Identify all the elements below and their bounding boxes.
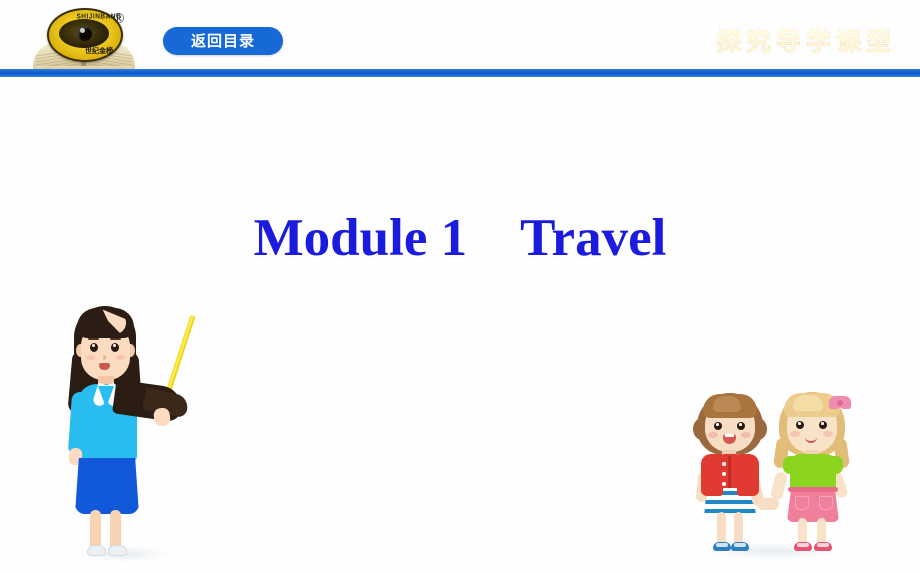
course-type-title: 探究导学课型 [716, 22, 896, 58]
girl-left-cheek-right [741, 432, 751, 438]
girl-right-arm-left [770, 471, 788, 501]
girl-left-teeth [725, 434, 734, 437]
teacher-eye-right-highlight [113, 344, 116, 347]
girl-right-skirt-pocket-right [819, 496, 833, 510]
girl-left-shoe-left-inner [716, 543, 728, 547]
girl-right-sleeve-right [829, 456, 843, 474]
joined-hands [757, 498, 779, 510]
girl-left-jacket-button-2 [722, 472, 726, 476]
two-girls-illustration [695, 390, 865, 570]
girl-left-shoe-right-inner [734, 543, 746, 547]
girl-left-fringe-highlight [713, 396, 741, 412]
girl-left-eye-left-highlight [716, 423, 719, 426]
girl-right-eye-left-highlight [798, 422, 801, 425]
return-to-contents-button[interactable]: 返回目录 [163, 27, 283, 55]
girl-right-skirt-waistband [788, 487, 838, 492]
eye-iris-icon [59, 19, 109, 48]
teacher-hand-right [153, 407, 171, 427]
slide-canvas: SHIJINBANG 世纪金榜 ® 返回目录 探究导学课型 Module 1 T… [0, 0, 920, 573]
registered-mark-icon: ® [113, 12, 124, 27]
logo-arc-bottom-text: 世纪金榜 [67, 46, 131, 58]
page-title: Module 1 Travel [0, 195, 920, 271]
header-divider-rule [0, 69, 920, 77]
girl-right-sleeve-left [783, 456, 797, 474]
girl-left-jacket-button-3 [722, 482, 726, 486]
girl-right-cheek-right [823, 431, 833, 437]
girl-right-eye-right-highlight [821, 422, 824, 425]
teacher-shoe-right [108, 545, 127, 556]
teacher-eyebrow-left [88, 338, 99, 340]
girl-right-cheek-left [790, 431, 800, 437]
slide-header: SHIJINBANG 世纪金榜 ® 返回目录 探究导学课型 [0, 0, 920, 78]
eye-emblem-icon: SHIJINBANG 世纪金榜 [47, 8, 123, 62]
teacher-eye-left-highlight [92, 344, 95, 347]
teacher-cheek-left [86, 355, 95, 360]
teacher-illustration [48, 300, 213, 555]
shijinbang-logo: SHIJINBANG 世纪金榜 ® [33, 6, 135, 72]
girl-left-jacket-placket [728, 456, 731, 488]
girl-right-hair-bow-center [837, 400, 843, 406]
teacher-nose [103, 355, 106, 360]
girl-right-shoe-right-inner [817, 543, 829, 547]
teacher-shoe-left [87, 545, 106, 556]
teacher-eyebrow-right [110, 338, 121, 340]
girl-left-cheek-left [708, 432, 718, 438]
girl-right-fringe-highlight [793, 395, 823, 411]
eye-glint-icon [80, 28, 85, 33]
teacher-cheek-right [116, 355, 125, 360]
girl-right-shoe-left-inner [797, 543, 809, 547]
teacher-skirt [75, 458, 139, 514]
girl-left-jacket-button-1 [722, 462, 726, 466]
girl-right-skirt-pocket-left [795, 496, 809, 510]
girl-left-eye-right-highlight [739, 423, 742, 426]
